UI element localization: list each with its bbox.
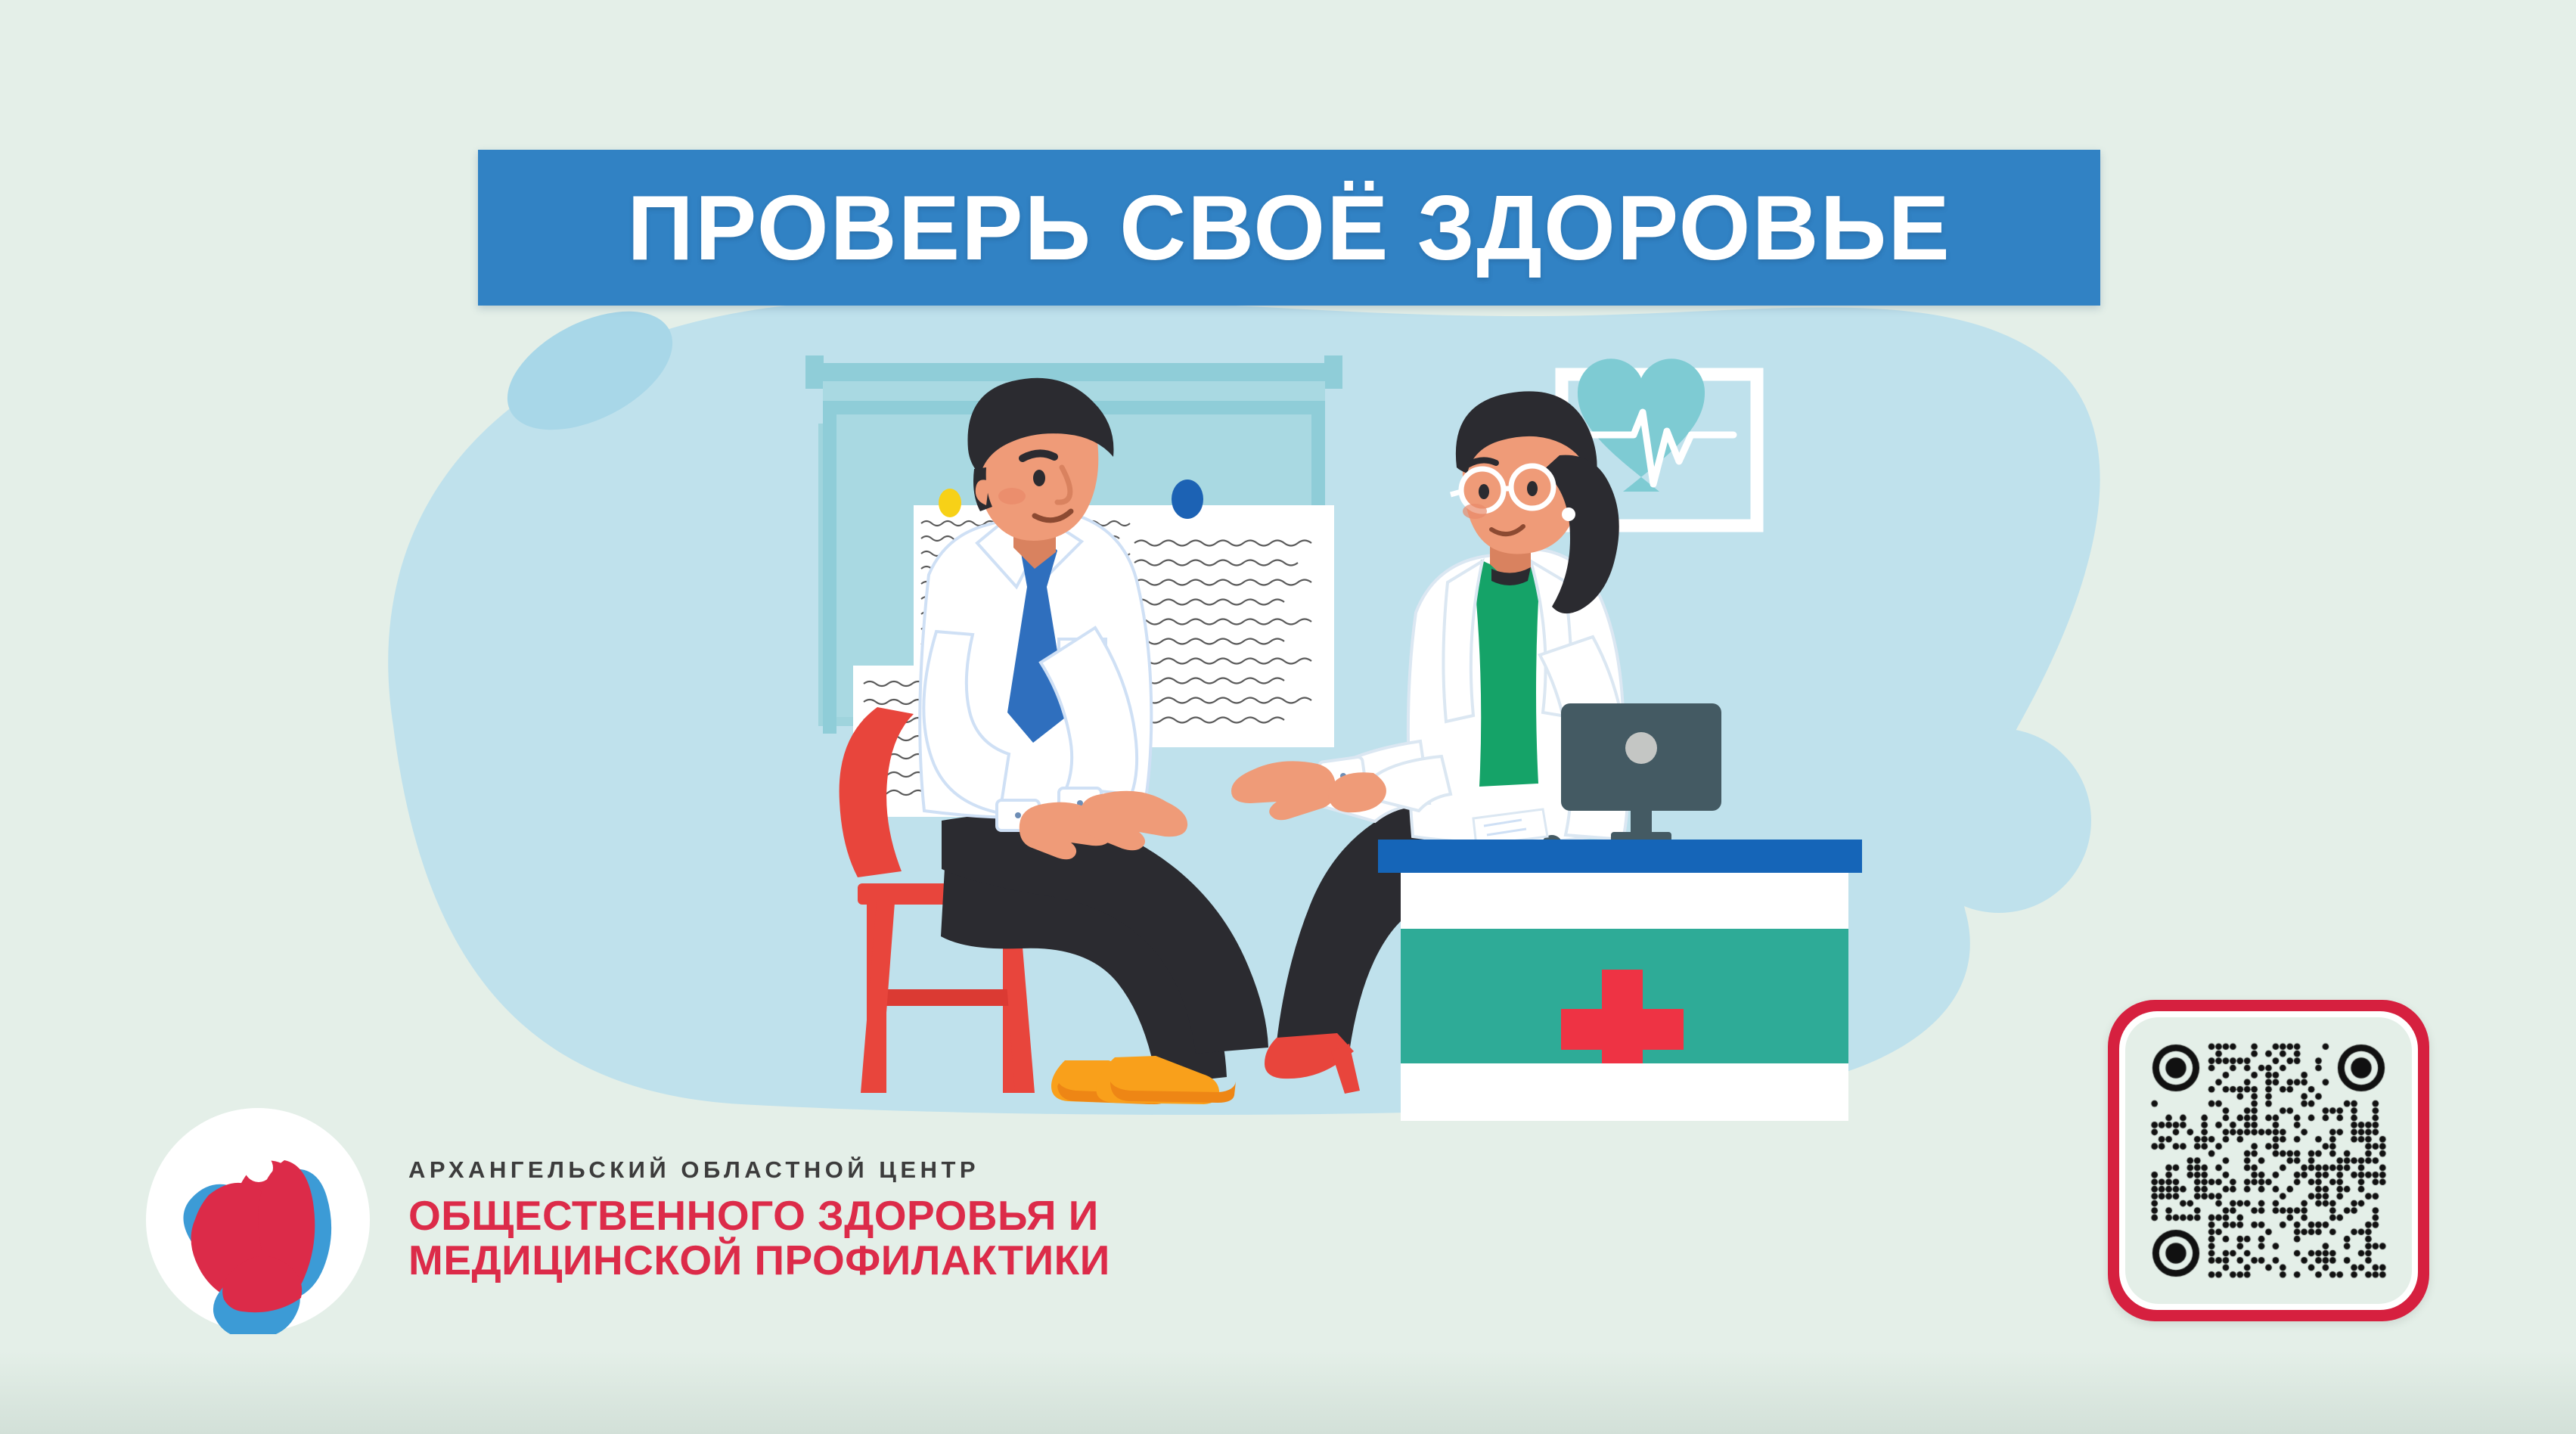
doctor-shirt (1476, 560, 1538, 787)
page-title: ПРОВЕРЬ СВОЁ ЗДОРОВЬЕ (627, 182, 1951, 274)
qr-modules (2125, 1017, 2412, 1304)
desk-band-bottom (1401, 1063, 1848, 1121)
poster-canvas: ПРОВЕРЬ СВОЁ ЗДОРОВЬЕ АРХАНГЕЛЬСКИЙ ОБЛА… (0, 0, 2576, 1434)
logo-line-2: ОБЩЕСТВЕННОГО ЗДОРОВЬЯ И (408, 1193, 1110, 1238)
monitor-dot (1625, 732, 1657, 764)
desk-band-top (1401, 873, 1848, 929)
logo-line-1: АРХАНГЕЛЬСКИЙ ОБЛАСТНОЙ ЦЕНТР (408, 1158, 1110, 1181)
qr-code[interactable] (2108, 1000, 2429, 1321)
doctor-hand-open (1231, 761, 1336, 820)
pin-blue (1172, 480, 1203, 519)
logo-emblem-icon (144, 1106, 372, 1334)
pin-yellow (939, 489, 961, 517)
logo-wordmark: АРХАНГЕЛЬСКИЙ ОБЛАСТНОЙ ЦЕНТР ОБЩЕСТВЕНН… (408, 1158, 1110, 1283)
qr-field (2125, 1017, 2412, 1304)
logo-line-3: МЕДИЦИНСКОЙ ПРОФИЛАКТИКИ (408, 1238, 1110, 1283)
organization-logo: АРХАНГЕЛЬСКИЙ ОБЛАСТНОЙ ЦЕНТР ОБЩЕСТВЕНН… (144, 1106, 1110, 1334)
desk-top (1378, 840, 1862, 873)
reception-desk (1378, 840, 1862, 1121)
title-banner: ПРОВЕРЬ СВОЁ ЗДОРОВЬЕ (478, 150, 2100, 306)
